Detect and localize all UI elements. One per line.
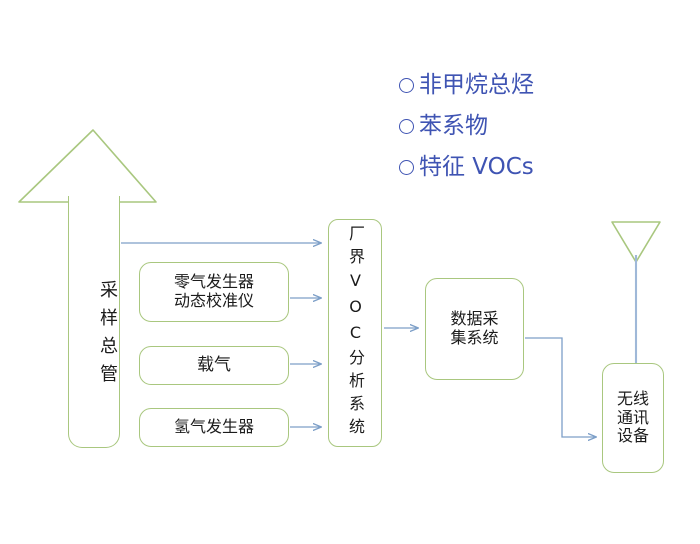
node-wireless-device[interactable]: 无线 通讯 设备	[602, 363, 664, 473]
node-voc-analyzer-label: 厂界VOC分析系统	[347, 225, 363, 441]
node-carrier-gas-label: 载气	[197, 355, 231, 375]
node-carrier-gas[interactable]: 载气	[139, 346, 289, 385]
node-hydrogen-generator[interactable]: 氢气发生器	[139, 408, 289, 447]
node-zero-gas-generator[interactable]: 零气发生器 动态校准仪	[139, 262, 289, 322]
legend-item-btex: 苯系物	[399, 115, 679, 138]
node-wireless-device-label: 无线 通讯 设备	[617, 390, 649, 447]
legend-item-btex-label: 苯系物	[419, 115, 488, 138]
node-voc-analyzer[interactable]: 厂界VOC分析系统	[328, 219, 382, 447]
circle-outline-icon	[399, 78, 414, 93]
circle-outline-icon	[399, 160, 414, 175]
legend-list: 非甲烷总烃 苯系物 特征 VOCs	[399, 74, 679, 197]
legend-item-nmhc-label: 非甲烷总烃	[419, 74, 534, 97]
node-zero-gas-generator-label: 零气发生器 动态校准仪	[174, 273, 254, 311]
sampling-trunk-label: 采样总管	[68, 246, 120, 426]
node-data-acquisition[interactable]: 数据采 集系统	[425, 278, 524, 380]
node-hydrogen-generator-label: 氢气发生器	[174, 418, 254, 437]
legend-item-nmhc: 非甲烷总烃	[399, 74, 679, 97]
node-data-acquisition-label: 数据采 集系统	[450, 310, 498, 348]
legend-item-vocs-label: 特征 VOCs	[419, 156, 534, 179]
connector-data-to-wireless	[525, 338, 596, 437]
diagram-canvas: 采样总管 零气发生器 动态校准仪 载气 氢气发生器 厂界VOC分析系统 数据采 …	[0, 0, 700, 544]
legend-item-vocs: 特征 VOCs	[399, 156, 679, 179]
circle-outline-icon	[399, 119, 414, 134]
sampling-trunk-arrowhead	[19, 130, 156, 202]
